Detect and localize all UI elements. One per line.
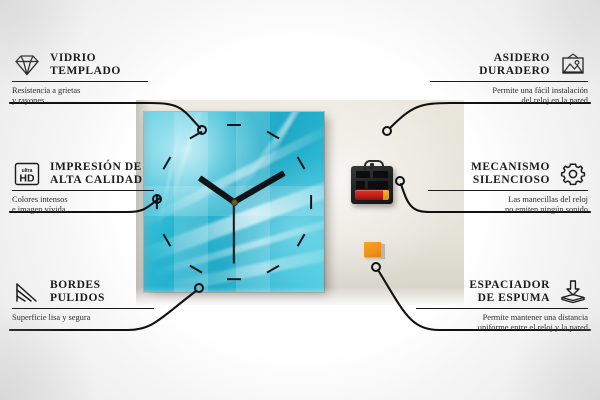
feature-title: IMPRESIÓN DE ALTA CALIDAD (50, 161, 143, 187)
clock-tick (227, 124, 241, 126)
feature-desc-line2: y rayones (12, 96, 152, 106)
feature-title: MECANISMO SILENCIOSO (471, 161, 550, 187)
feature-bordes-pulidos[interactable]: BORDES PULIDOS Superficie lisa y segura (12, 279, 158, 323)
feature-espaciador-espuma[interactable]: ESPACIADOR DE ESPUMA Permite mantener un… (416, 279, 588, 333)
foam-spacer-part (364, 242, 381, 257)
movement-detail (368, 181, 388, 189)
feature-divider (12, 190, 154, 191)
picture-hanger-icon (558, 52, 588, 78)
feature-desc-line1: Las manecillas del reloj (428, 195, 588, 205)
feature-desc-line2: e imagen vívida (12, 205, 158, 215)
clock-tick (227, 278, 241, 280)
feature-desc-line1: Permite mantener una distancia (416, 313, 588, 323)
product-photo (136, 100, 464, 305)
feature-header: MECANISMO SILENCIOSO (428, 161, 588, 187)
foam-spacer-icon (558, 279, 588, 305)
feature-divider (416, 308, 588, 309)
feature-desc-line2: no emiten ningún sonido (428, 205, 588, 215)
movement-detail (356, 181, 365, 189)
feature-desc-line1: Colores intensos (12, 195, 158, 205)
wall-clock-product (144, 112, 324, 292)
feature-title: ASIDERO DURADERO (479, 52, 550, 78)
clock-tick (310, 195, 312, 209)
polished-edges-icon (12, 280, 42, 304)
movement-detail (373, 171, 388, 178)
feature-desc-line2: uniforme entre el reloj y la pared (416, 323, 588, 333)
feature-divider (12, 81, 148, 82)
photo-edge-fade-bottom (136, 287, 464, 305)
feature-desc-line1: Permite una fácil instalación (430, 86, 588, 96)
feature-title: ESPACIADOR DE ESPUMA (469, 279, 550, 305)
foam-spacer-side (381, 244, 385, 259)
feature-desc-line2: del reloj en la pared (430, 96, 588, 106)
movement-shaft (370, 163, 374, 169)
feature-header: ESPACIADOR DE ESPUMA (416, 279, 588, 305)
second-hand (233, 202, 235, 264)
feature-title: VIDRIO TEMPLADO (50, 52, 121, 78)
diamond-icon (12, 53, 42, 77)
feature-desc-line1: Resistencia a grietas (12, 86, 152, 96)
ultra-hd-icon: ultra HD (12, 161, 42, 187)
infographic-canvas: VIDRIO TEMPLADO Resistencia a grietas y … (0, 0, 600, 400)
feature-asidero-duradero[interactable]: ASIDERO DURADERO Permite una fácil insta… (430, 52, 588, 106)
clock-movement (351, 166, 393, 204)
feature-header: ultra HD IMPRESIÓN DE ALTA CALIDAD (12, 161, 158, 187)
gear-icon (558, 161, 588, 187)
feature-divider (430, 81, 588, 82)
feature-impresion-alta-calidad[interactable]: ultra HD IMPRESIÓN DE ALTA CALIDAD Color… (12, 161, 158, 215)
feature-divider (428, 190, 588, 191)
feature-divider (12, 308, 154, 309)
feature-header: ASIDERO DURADERO (430, 52, 588, 78)
feature-desc-line1: Superficie lisa y segura (12, 313, 158, 323)
feature-title: BORDES PULIDOS (50, 279, 105, 305)
clock-center-hub (231, 199, 238, 206)
feature-vidrio-templado[interactable]: VIDRIO TEMPLADO Resistencia a grietas y … (12, 52, 152, 106)
battery-terminal (383, 190, 389, 200)
feature-header: BORDES PULIDOS (12, 279, 158, 305)
feature-mecanismo-silencioso[interactable]: MECANISMO SILENCIOSO Las manecillas del … (428, 161, 588, 215)
battery (355, 190, 389, 200)
svg-text:HD: HD (19, 173, 35, 185)
movement-hanger-icon (364, 160, 384, 170)
movement-detail (356, 171, 370, 178)
feature-header: VIDRIO TEMPLADO (12, 52, 152, 78)
